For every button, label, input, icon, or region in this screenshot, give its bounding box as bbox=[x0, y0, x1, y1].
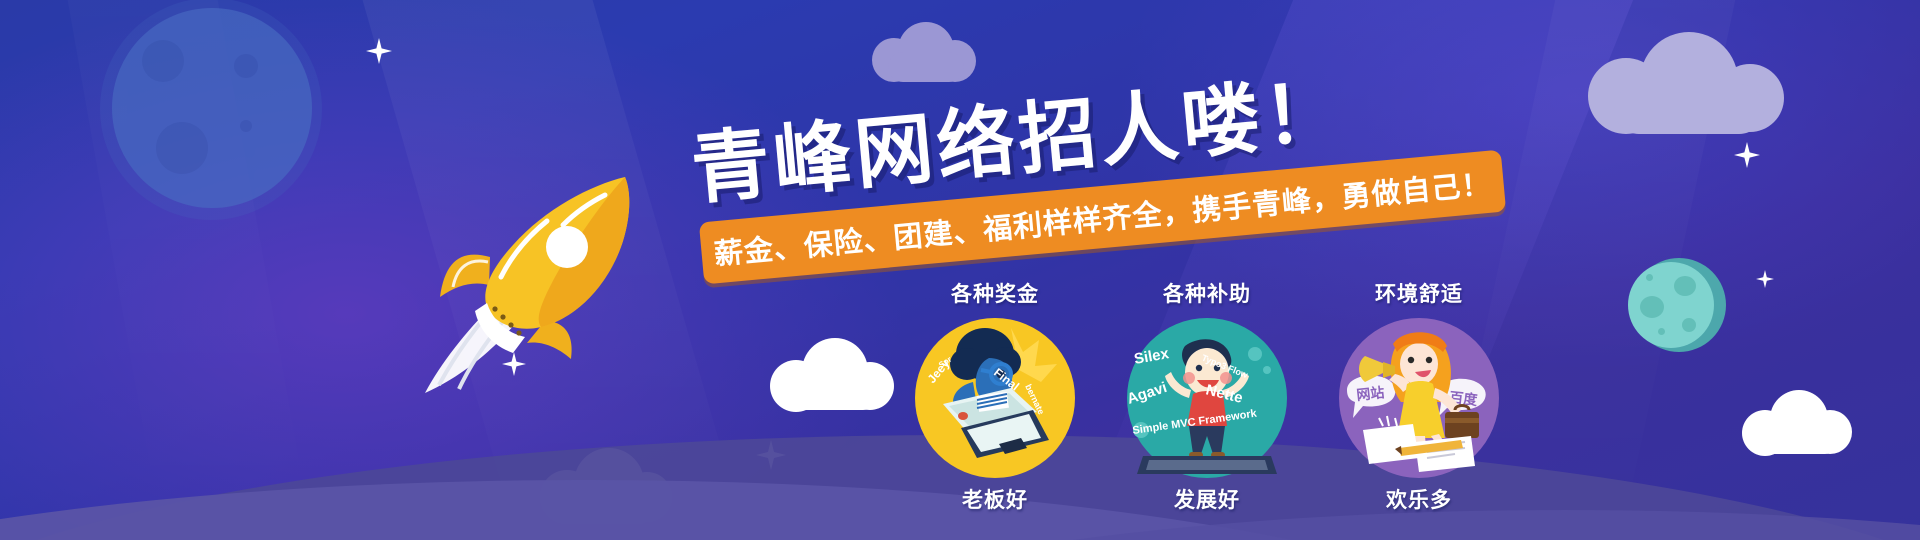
svg-text:Agavi: Agavi bbox=[1127, 379, 1169, 408]
feature-item-bonus[interactable]: 各种奖金 bbox=[900, 278, 1090, 514]
blue-moon-glow bbox=[100, 0, 322, 220]
happy-boy-on-keyboard-illustration: Silex Typo3 Flow Agavi Nette Simple MVC … bbox=[1127, 318, 1287, 478]
feature-top-label: 各种补助 bbox=[1112, 278, 1302, 308]
sparkle-icon bbox=[366, 38, 392, 64]
feature-item-subsidy[interactable]: 各种补助 bbox=[1112, 278, 1302, 514]
feature-bottom-label: 发展好 bbox=[1112, 484, 1302, 514]
feature-bottom-label: 欢乐多 bbox=[1324, 484, 1514, 514]
developer-at-laptop-illustration: Jeey Spr Final bernate bbox=[915, 318, 1075, 478]
sparkle-icon bbox=[1756, 270, 1774, 288]
feature-top-label: 环境舒适 bbox=[1324, 278, 1514, 308]
feature-item-environment[interactable]: 环境舒适 网站 百度 bbox=[1324, 278, 1514, 514]
svg-text:Silex: Silex bbox=[1133, 345, 1171, 368]
sparkle-icon bbox=[1734, 142, 1760, 168]
teal-moon-face bbox=[1628, 262, 1714, 348]
feature-list: 各种奖金 bbox=[900, 278, 1540, 528]
rocket-icon bbox=[395, 145, 645, 395]
feature-bottom-label: 老板好 bbox=[900, 484, 1090, 514]
girl-with-megaphone-illustration: 网站 百度 bbox=[1339, 318, 1499, 478]
feature-top-label: 各种奖金 bbox=[900, 278, 1090, 308]
recruitment-banner: 青峰网络招人喽！ 薪金、保险、团建、福利样样齐全，携手青峰，勇做自己！ 各种奖金 bbox=[0, 0, 1920, 540]
svg-text:网站: 网站 bbox=[1356, 384, 1386, 403]
